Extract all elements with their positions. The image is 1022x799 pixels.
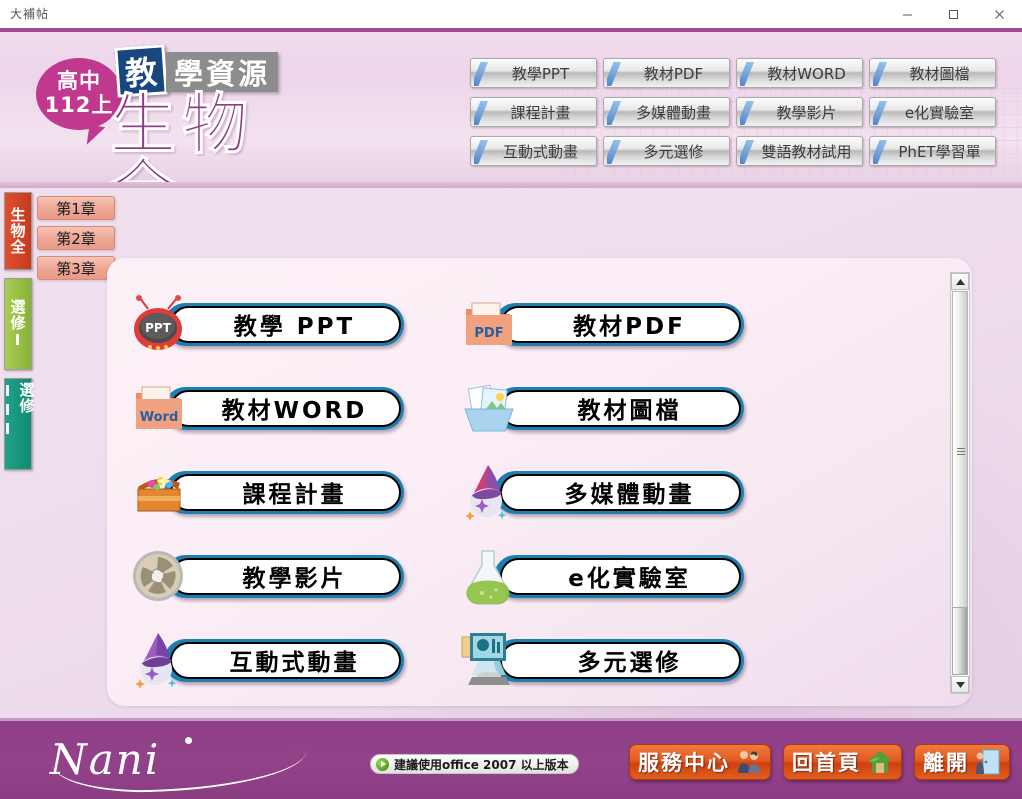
main-menu-grid: PPT 教學 PPT PDF 教材PD [130, 282, 880, 702]
treasure-chest-icon [130, 463, 188, 521]
quick-button-label: 多媒體動畫 [622, 102, 711, 123]
menu-item-interactive-animation[interactable]: 互動式動畫 [130, 618, 460, 702]
menu-item-teaching-ppt[interactable]: PPT 教學 PPT [130, 282, 460, 366]
menu-item-multimedia-animation[interactable]: 多媒體動畫 [460, 450, 790, 534]
service-center-button[interactable]: 服務中心 [629, 744, 771, 780]
home-label: 回首頁 [792, 747, 861, 777]
quick-button-label: 教材PDF [630, 63, 703, 84]
menu-item-course-plan[interactable]: 課程計畫 [130, 450, 460, 534]
slash-icon [474, 101, 490, 125]
menu-pill: 教材圖檔 [494, 387, 744, 430]
menu-item-label: 教材WORD [204, 391, 368, 425]
svg-text:PDF: PDF [474, 326, 503, 341]
maximize-button[interactable] [930, 0, 976, 28]
projector-icon [460, 631, 518, 689]
menu-pill-inner: e化實驗室 [500, 558, 741, 595]
application-window: 大補帖 高中 112上 教 學資源 生物全 [0, 0, 1022, 796]
menu-item-label: 課程計畫 [225, 475, 347, 509]
play-icon [376, 758, 389, 771]
sidebar-item-elective-1[interactable]: 選修I [4, 278, 32, 370]
slash-icon [474, 62, 490, 86]
menu-pill: 多元選修 [494, 639, 744, 682]
menu-pill-inner: 教材圖檔 [500, 390, 741, 427]
tv-ppt-icon: PPT [130, 295, 188, 353]
word-folder-icon: Word [130, 379, 188, 437]
magic-hat-icon [460, 463, 518, 521]
slash-icon [474, 140, 490, 164]
menu-item-label: 多元選修 [560, 643, 682, 677]
menu-pill: 課程計畫 [164, 471, 404, 514]
chapter-button-3[interactable]: 第3章 [37, 256, 115, 280]
menu-pill-inner: 教學影片 [170, 558, 401, 595]
quick-button-material-images[interactable]: 教材圖檔 [869, 58, 996, 88]
quick-button-label: 課程計畫 [496, 102, 570, 123]
quick-button-multimedia-animation[interactable]: 多媒體動畫 [603, 97, 730, 127]
sidebar-item-biology-full[interactable]: 生物全 [4, 192, 32, 270]
menu-pill: 多媒體動畫 [494, 471, 744, 514]
slash-icon [873, 140, 889, 164]
menu-item-label: e化實驗室 [550, 559, 691, 593]
home-button[interactable]: 回首頁 [783, 744, 902, 780]
menu-pill: 教材PDF [494, 303, 744, 346]
quick-button-label: 互動式動畫 [489, 141, 578, 162]
menu-item-e-lab[interactable]: e化實驗室 [460, 534, 790, 618]
brand-swoosh [51, 751, 307, 796]
quick-button-label: 多元選修 [629, 141, 703, 162]
quick-button-bilingual-trial[interactable]: 雙語教材試用 [736, 136, 863, 166]
page-title: 生物全 [110, 92, 318, 188]
menu-item-label: 教材PDF [555, 307, 686, 341]
quick-button-label: 教學PPT [498, 63, 569, 84]
grade-badge-line2: 112上 [45, 94, 114, 118]
slash-icon [873, 62, 889, 86]
minimize-button[interactable] [884, 0, 930, 28]
exit-button[interactable]: 離開 [914, 744, 1010, 780]
chapter-button-1[interactable]: 第1章 [37, 196, 115, 220]
window-controls [884, 0, 1022, 28]
quick-button-label: 教材圖檔 [895, 63, 969, 84]
support-people-icon [736, 749, 762, 775]
menu-pill: 教學影片 [164, 555, 404, 598]
office-version-text: 建議使用office 2007 以上版本 [394, 756, 569, 773]
pdf-folder-icon: PDF [460, 295, 518, 353]
scroll-up-button[interactable] [951, 273, 969, 290]
menu-pill-inner: 教材PDF [500, 306, 741, 343]
menu-pill-inner: 互動式動畫 [170, 642, 401, 679]
svg-text:PPT: PPT [145, 321, 172, 335]
menu-pill: 教學 PPT [164, 303, 404, 346]
quick-button-teaching-ppt[interactable]: 教學PPT [470, 58, 597, 88]
menu-pill: e化實驗室 [494, 555, 744, 598]
close-button[interactable] [976, 0, 1022, 28]
sidebar-item-elective-3[interactable]: 選修III [4, 378, 32, 470]
menu-item-label: 教學 PPT [216, 307, 355, 341]
flask-icon [460, 547, 518, 605]
film-reel-icon [130, 547, 188, 605]
quick-button-label: 教學影片 [762, 102, 836, 123]
quick-button-elective[interactable]: 多元選修 [603, 136, 730, 166]
slash-icon [740, 62, 756, 86]
menu-item-label: 多媒體動畫 [547, 475, 695, 509]
menu-pill-inner: 多媒體動畫 [500, 474, 741, 511]
menu-item-label: 教材圖檔 [560, 391, 682, 425]
scrollbar-lower-track[interactable] [952, 607, 968, 675]
quick-button-grid: 教學PPT 教材PDF 教材WORD 教材圖檔 課程計畫 多媒體動畫 [470, 58, 1002, 168]
brand-logo: 高中 112上 教 學資源 生物全 [18, 34, 318, 188]
menu-pill-inner: 教材WORD [170, 390, 401, 427]
window-title: 大補帖 [10, 5, 49, 22]
slash-icon [740, 101, 756, 125]
slash-icon [873, 101, 889, 125]
quick-button-material-pdf[interactable]: 教材PDF [603, 58, 730, 88]
footer-button-group: 服務中心 回首頁 離開 [629, 744, 1010, 780]
menu-item-elective[interactable]: 多元選修 [460, 618, 790, 702]
menu-item-material-pdf[interactable]: PDF 教材PDF [460, 282, 790, 366]
menu-pill-inner: 教學 PPT [170, 306, 401, 343]
menu-item-material-images[interactable]: 教材圖檔 [460, 366, 790, 450]
quick-button-phet-worksheet[interactable]: PhET學習單 [869, 136, 996, 166]
slash-icon [607, 101, 623, 125]
menu-pill-inner: 多元選修 [500, 642, 741, 679]
quick-button-interactive-animation[interactable]: 互動式動畫 [470, 136, 597, 166]
brand-dot [185, 737, 192, 744]
quick-button-label: 教材WORD [753, 63, 846, 84]
vertical-scrollbar[interactable] [950, 272, 970, 694]
slash-icon [740, 140, 756, 164]
exit-label: 離開 [923, 747, 969, 777]
service-center-label: 服務中心 [638, 747, 730, 777]
office-version-note: 建議使用office 2007 以上版本 [370, 754, 579, 774]
quick-button-label: e化實驗室 [891, 102, 974, 123]
menu-pill-inner: 課程計畫 [170, 474, 401, 511]
magic-hat-icon [130, 631, 188, 689]
quick-button-teaching-video[interactable]: 教學影片 [736, 97, 863, 127]
menu-item-teaching-video[interactable]: 教學影片 [130, 534, 460, 618]
image-box-icon [460, 379, 518, 437]
slash-icon [607, 62, 623, 86]
menu-item-material-word[interactable]: Word 教材WORD [130, 366, 460, 450]
chapter-button-2[interactable]: 第2章 [37, 226, 115, 250]
scroll-down-button[interactable] [951, 676, 969, 693]
quick-button-label: PhET學習單 [884, 141, 980, 162]
exit-door-icon [975, 749, 1001, 775]
quick-button-course-plan[interactable]: 課程計畫 [470, 97, 597, 127]
sidebar: 生物全 選修I 選修III [4, 192, 36, 478]
grade-badge-line1: 高中 [57, 70, 101, 94]
scrollbar-thumb[interactable] [952, 291, 968, 613]
home-icon [867, 749, 893, 775]
quick-button-material-word[interactable]: 教材WORD [736, 58, 863, 88]
menu-pill: 教材WORD [164, 387, 404, 430]
quick-button-label: 雙語教材試用 [747, 141, 851, 162]
svg-text:Word: Word [140, 410, 179, 425]
slash-icon [607, 140, 623, 164]
page-header: 高中 112上 教 學資源 生物全 教學PPT 教材PDF 教材WORD 教材 [0, 28, 1022, 188]
menu-item-label: 互動式動畫 [212, 643, 360, 677]
menu-pill: 互動式動畫 [164, 639, 404, 682]
scrollbar-grip-icon [957, 448, 965, 456]
nani-brand-logo: Nani [40, 733, 310, 789]
title-bar: 大補帖 [0, 0, 1022, 28]
quick-button-e-lab[interactable]: e化實驗室 [869, 97, 996, 127]
menu-item-label: 教學影片 [225, 559, 347, 593]
